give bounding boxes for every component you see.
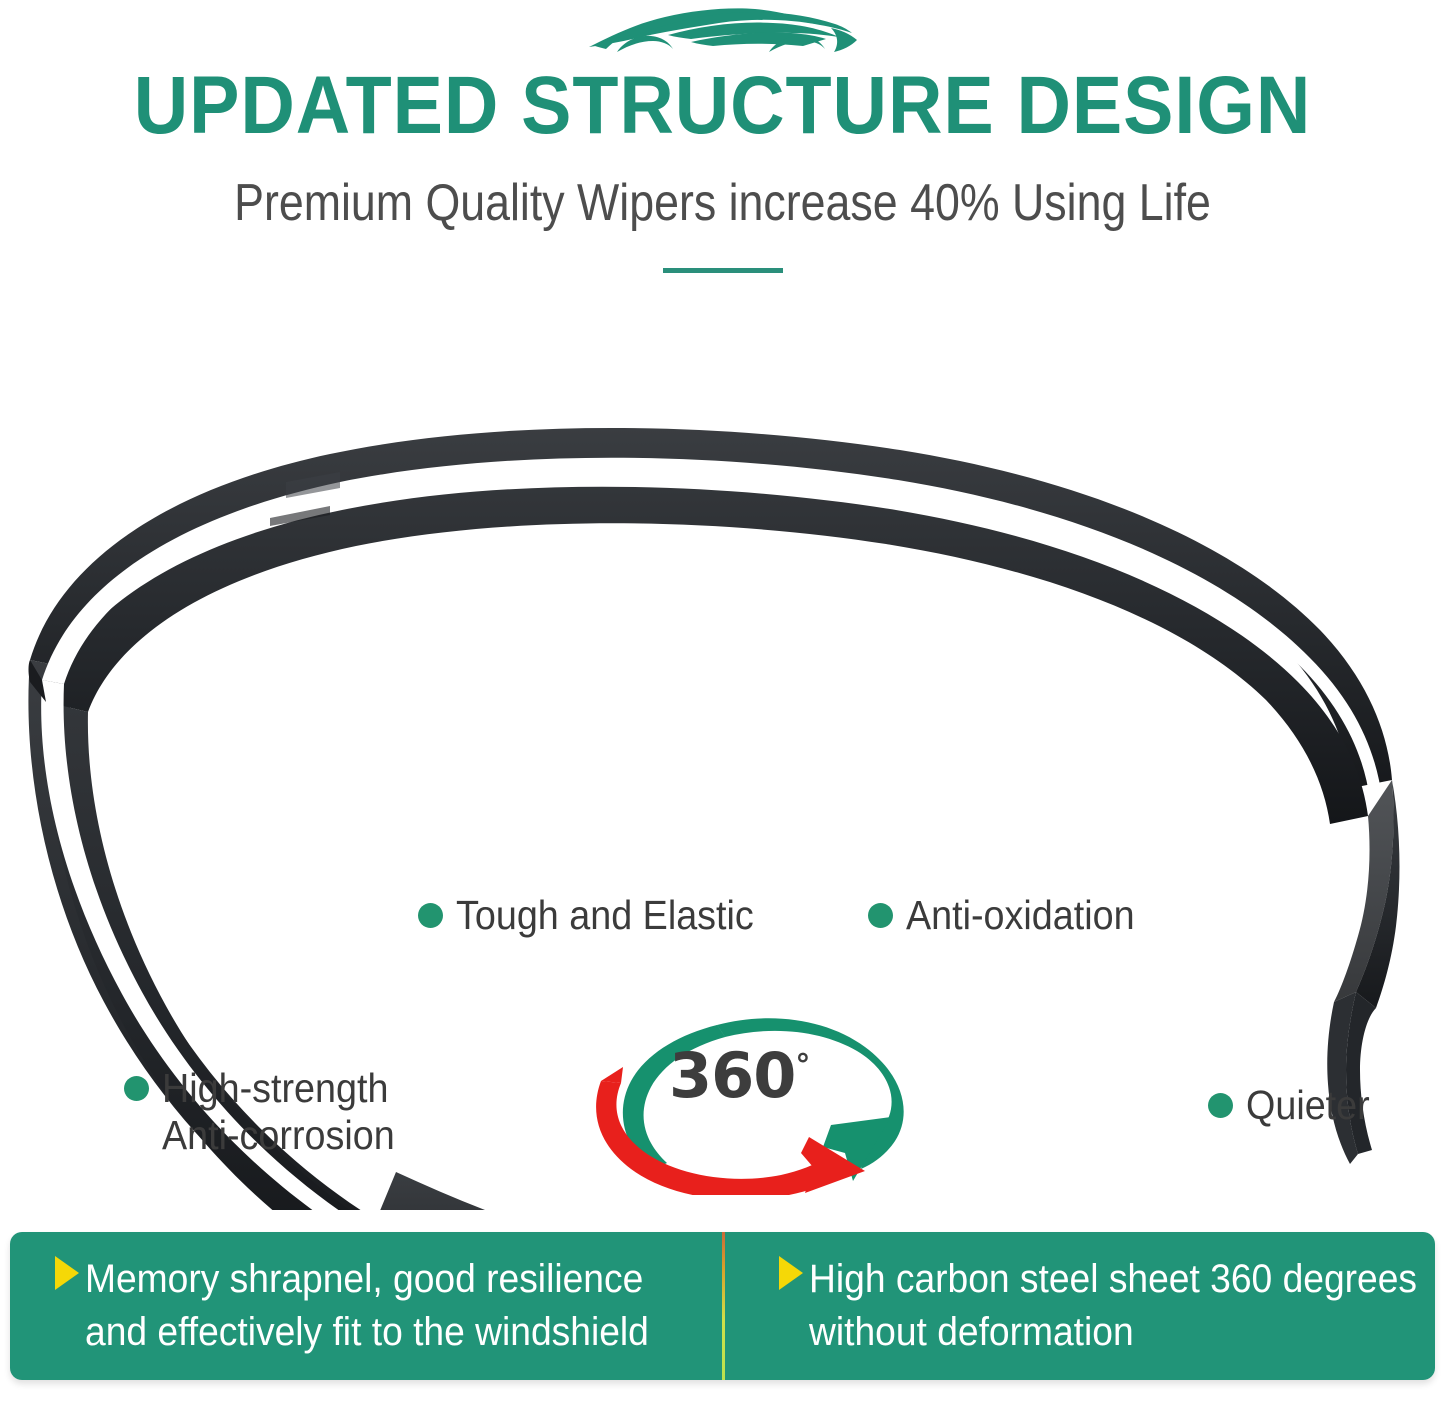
feature-label: Tough and Elastic [456,892,754,939]
title-divider [663,268,783,273]
feature-label-line1: High-strength [162,1065,395,1112]
banner-line1: Memory shrapnel, good resilience [85,1253,649,1306]
feature-high-strength-anti-corrosion: High-strength Anti-corrosion [124,1065,415,1159]
banner-text-group: Memory shrapnel, good resilience and eff… [85,1253,649,1359]
banner-text-group: High carbon steel sheet 360 degrees with… [809,1253,1417,1359]
badge-number-text: 360° [669,1045,809,1107]
360-degree-badge: 360° [565,985,925,1195]
banner-line1: High carbon steel sheet 360 degrees [809,1253,1417,1306]
banner-panel-high-carbon-steel: High carbon steel sheet 360 degrees with… [691,1232,1445,1380]
banner-panel-memory-shrapnel: Memory shrapnel, good resilience and eff… [10,1232,691,1380]
feature-label: Anti-oxidation [906,892,1135,939]
feature-label-line2: Anti-corrosion [162,1112,395,1159]
feature-label: Quieter [1246,1082,1370,1129]
bullet-dot-icon [868,903,893,928]
badge-number: 360 [669,1039,795,1112]
product-image-area: Tough and Elastic Anti-oxidation High-st… [0,330,1445,1210]
page-subtitle: Premium Quality Wipers increase 40% Usin… [101,172,1344,234]
banner-line2: and effectively fit to the windshield [85,1306,649,1359]
bullet-dot-icon [418,903,443,928]
feature-banner: Memory shrapnel, good resilience and eff… [10,1232,1435,1380]
header: UPDATED STRUCTURE DESIGN Premium Quality… [0,0,1445,300]
sports-car-silhouette-icon [573,2,873,68]
page-title: UPDATED STRUCTURE DESIGN [58,62,1387,150]
bullet-dot-icon [1208,1093,1233,1118]
triangle-bullet-icon [55,1256,79,1290]
triangle-bullet-icon [779,1256,803,1290]
banner-line2: without deformation [809,1306,1417,1359]
feature-anti-oxidation: Anti-oxidation [868,892,1154,939]
bullet-dot-icon [124,1076,149,1101]
badge-degree-symbol: ° [795,1048,809,1083]
feature-quieter: Quieter [1208,1082,1380,1129]
feature-label-group: High-strength Anti-corrosion [162,1065,415,1159]
feature-tough-and-elastic: Tough and Elastic [418,892,780,939]
